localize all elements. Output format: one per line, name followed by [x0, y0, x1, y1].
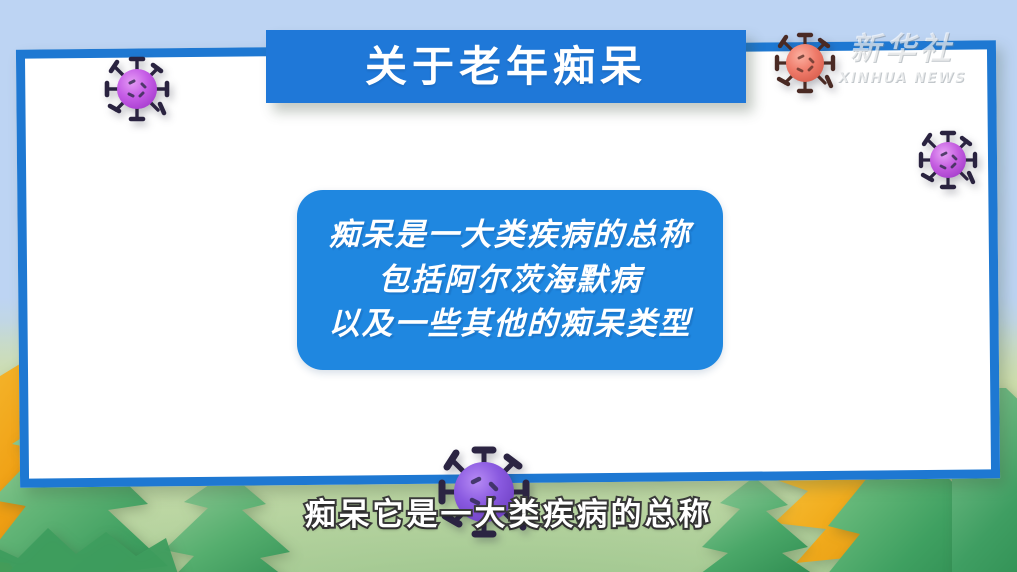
subtitle-caption: 痴呆它是一大类疾病的总称 — [0, 498, 1017, 532]
infographic-slide: 关于老年痴呆 新华社 XINHUA NEWS — [0, 0, 1017, 572]
virus-purple-top-left-icon — [98, 50, 176, 128]
subtitle-text: 痴呆它是一大类疾病的总称 — [305, 498, 713, 532]
title-banner: 关于老年痴呆 — [266, 30, 746, 103]
message-box: 痴呆是一大类疾病的总称 包括阿尔茨海默病 以及一些其他的痴呆类型 — [297, 190, 723, 370]
message-line-2: 包括阿尔茨海默病 — [378, 258, 642, 303]
page-title: 关于老年痴呆 — [365, 46, 647, 88]
message-line-3: 以及一些其他的痴呆类型 — [329, 302, 692, 347]
virus-red-top-right-icon — [768, 26, 842, 100]
virus-purple-right-icon — [912, 124, 984, 196]
message-line-1: 痴呆是一大类疾病的总称 — [329, 213, 692, 258]
